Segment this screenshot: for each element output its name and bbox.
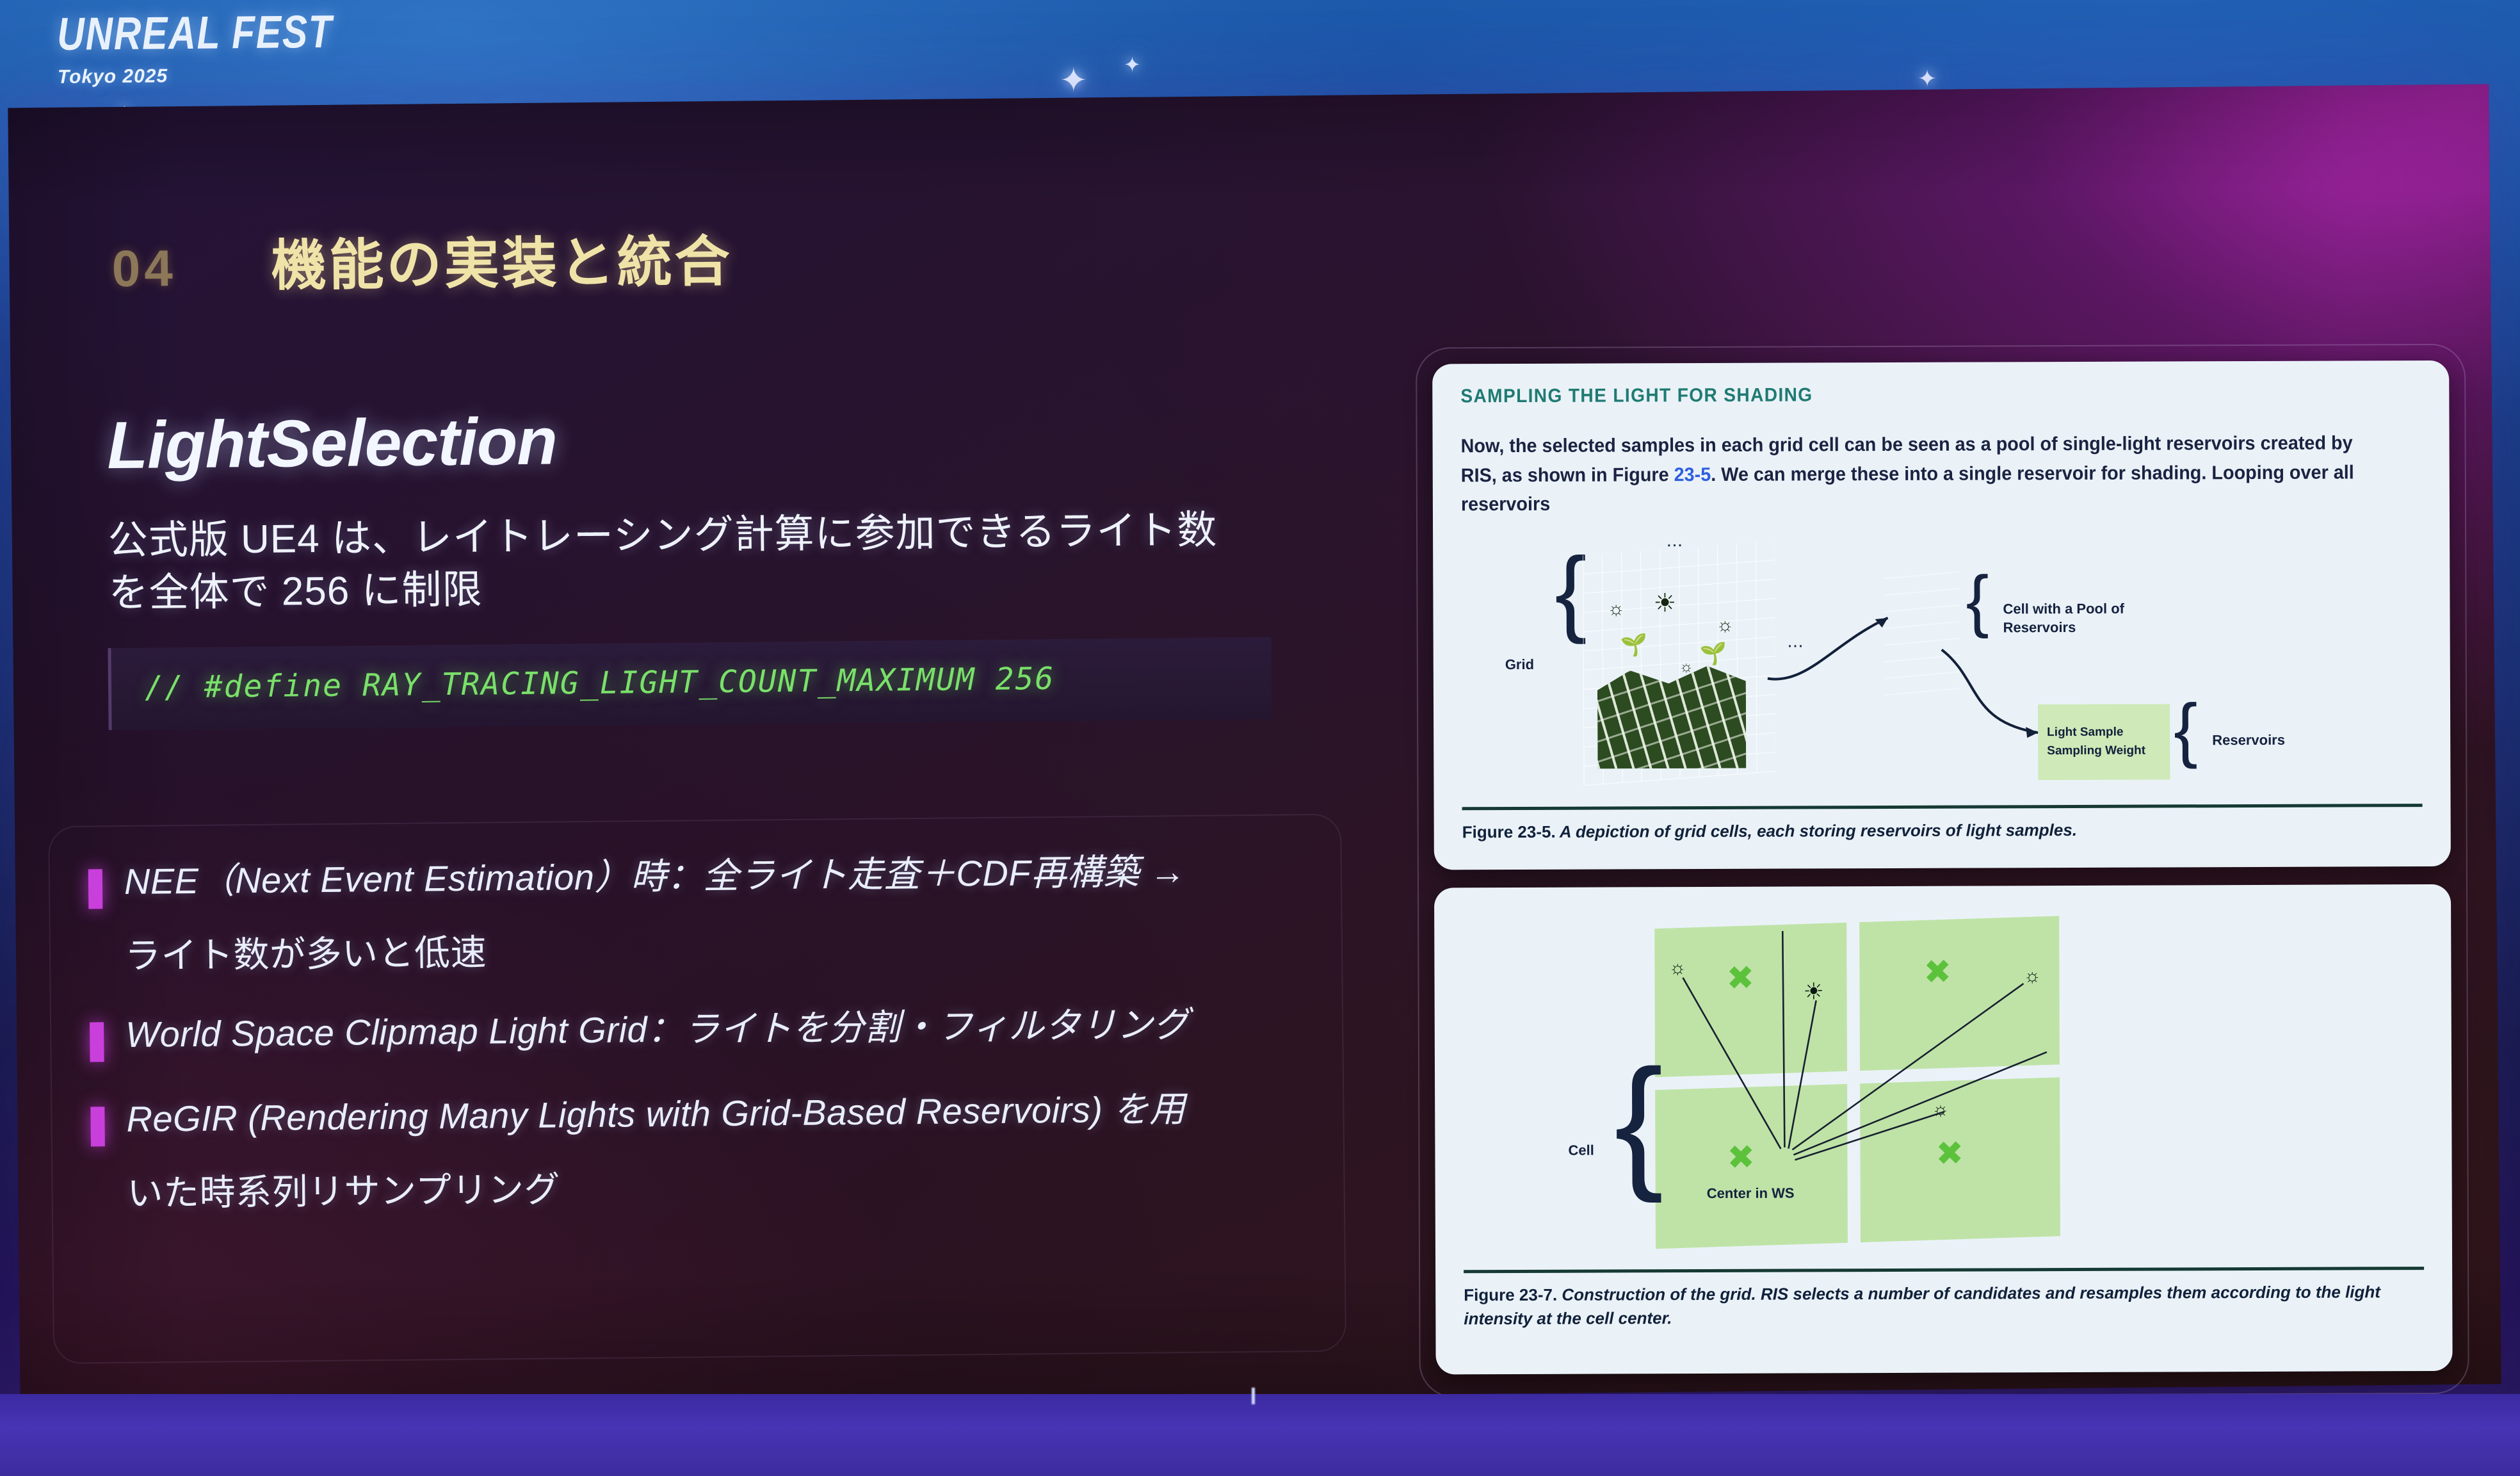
reservoir-box: Light Sample Sampling Weight <box>2038 704 2170 780</box>
venue-backdrop: ✦ ✦ ✦ ✦ ✦ ✦ ✦ UNREAL FEST Tokyo 2025 04 … <box>0 0 2520 1476</box>
list-item: World Space Clipmap Light Grid：ライトを分割・フィ… <box>90 1002 1304 1062</box>
caption-text: A depiction of grid cells, each storing … <box>1556 820 2077 841</box>
bullet-text: NEE（Next Event Estimation）時：全ライト走査＋CDF再構… <box>124 850 1186 904</box>
grid-brace: { <box>1555 549 1587 632</box>
cell-brace: { <box>1614 1061 1663 1182</box>
slide-header: 04 機能の実装と統合 <box>111 216 732 302</box>
lead-paragraph: 公式版 UE4 は、レイトレーシング計算に参加できるライト数を全体で 256 に… <box>108 504 1248 620</box>
book-excerpt-panel: SAMPLING THE LIGHT FOR SHADING Now, the … <box>1416 344 2469 1398</box>
bullet-text: World Space Clipmap Light Grid：ライトを分割・フィ… <box>125 1003 1190 1057</box>
sun-icon: ☼ <box>1716 616 1734 635</box>
book-card-figure-23-7: ✖ ✖ ✖ ✖ ☼ ☀ ☼ ☼ <box>1434 884 2453 1375</box>
logo-subtitle: Tokyo 2025 <box>58 63 455 88</box>
bullet-continuation: いた時系列リサンプリング <box>127 1160 1305 1215</box>
reservoir-item: Light Sample <box>2047 724 2170 742</box>
section-number: 04 <box>111 239 177 298</box>
caption-rule <box>1464 1267 2424 1273</box>
bullet-continuation: ライト数が多いと低速 <box>125 923 1304 977</box>
label-center-in-ws: Center in WS <box>1707 1185 1795 1202</box>
section-title: 機能の実装と統合 <box>271 216 732 301</box>
bullet-text: ReGIR (Rendering Many Lights with Grid-B… <box>126 1087 1186 1141</box>
book-card-figure-23-5: SAMPLING THE LIGHT FOR SHADING Now, the … <box>1432 361 2451 870</box>
logo-title: UNREAL FEST <box>57 8 383 58</box>
unreal-fest-logo: UNREAL FEST Tokyo 2025 <box>57 8 455 108</box>
arrow-grid-to-cell <box>1762 604 1903 688</box>
pool-brace: { <box>1966 569 1989 631</box>
star-sparkle: ✦ <box>1918 65 1937 92</box>
code-line: // #define RAY_TRACING_LIGHT_COUNT_MAXIM… <box>145 659 1246 706</box>
label-reservoirs: Reservoirs <box>2212 732 2285 749</box>
code-block: // #define RAY_TRACING_LIGHT_COUNT_MAXIM… <box>108 637 1272 729</box>
list-item: ReGIR (Rendering Many Lights with Grid-B… <box>90 1086 1305 1146</box>
sun-icon: ☼ <box>1607 599 1625 619</box>
book-body-text: Now, the selected samples in each grid c… <box>1461 428 2383 519</box>
reservoirs-brace: { <box>2174 697 2198 762</box>
sun-icon: ☀ <box>1653 590 1676 616</box>
projected-slide: UNREAL FEST Tokyo 2025 04 機能の実装と統合 Light… <box>8 84 2501 1407</box>
list-item: NEE（Next Event Estimation）時：全ライト走査＋CDF再構… <box>88 848 1303 909</box>
bullet-bar-icon <box>90 1022 104 1062</box>
figure-caption-23-5: Figure 23-5. A depiction of grid cells, … <box>1462 817 2423 844</box>
caption-number: Figure 23-5. <box>1462 822 1556 842</box>
figure-caption-23-7: Figure 23-7. Construction of the grid. R… <box>1464 1280 2424 1331</box>
star-sparkle: ✦ <box>1060 61 1088 100</box>
sprout-icon: 🌱 <box>1620 634 1647 656</box>
reservoir-item: Sampling Weight <box>2047 742 2170 760</box>
figure-23-7-diagram: ✖ ✖ ✖ ✖ ☼ ☀ ☼ ☼ <box>1462 911 2424 1263</box>
slide-left-column: LightSelection 公式版 UE4 は、レイトレーシング計算に参加でき… <box>88 396 1410 730</box>
label-grid: Grid <box>1505 656 1534 673</box>
bullets-panel: NEE（Next Event Estimation）時：全ライト走査＋CDF再構… <box>48 814 1346 1364</box>
bullet-bar-icon <box>90 1107 105 1146</box>
figure-23-5-diagram: ... { Grid ☼ ☀ ☼ ☼ 🌱 🌱 ... <box>1461 531 2422 800</box>
bullet-bar-icon <box>88 869 103 909</box>
sprout-icon: 🌱 <box>1700 643 1727 665</box>
star-sparkle: ✦ <box>1124 53 1141 77</box>
caption-rule <box>1462 804 2423 810</box>
caption-text: Construction of the grid. RIS selects a … <box>1464 1282 2380 1328</box>
label-cell-with-pool: Cell with a Pool of Reservoirs <box>2003 599 2137 637</box>
stage-bottom-band <box>0 1394 2520 1476</box>
light-rays <box>1654 915 2078 1255</box>
figure-reference-link[interactable]: 23-5 <box>1674 464 1711 485</box>
label-cell: Cell <box>1568 1142 1594 1159</box>
sun-icon: ☼ <box>1679 660 1693 675</box>
book-section-heading: SAMPLING THE LIGHT FOR SHADING <box>1460 382 2363 407</box>
stage-light-speck <box>1252 1388 1255 1404</box>
feature-title: LightSelection <box>107 396 1407 484</box>
caption-number: Figure 23-7. <box>1464 1285 1557 1305</box>
